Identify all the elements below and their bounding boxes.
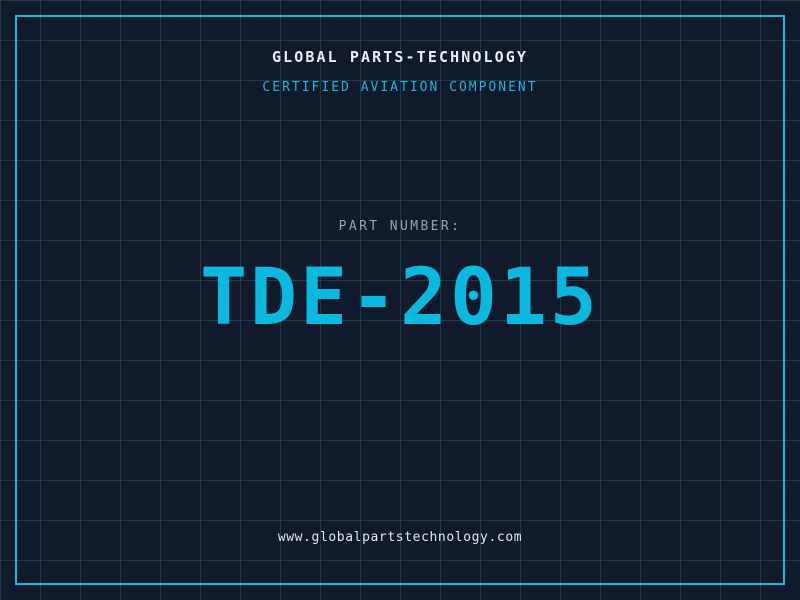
certification-subtitle: CERTIFIED AVIATION COMPONENT <box>0 80 800 95</box>
company-title: GLOBAL PARTS-TECHNOLOGY <box>0 48 800 66</box>
part-number-label: PART NUMBER: <box>0 219 800 234</box>
website-url: www.globalpartstechnology.com <box>0 530 800 545</box>
part-number-value: TDE-2015 <box>0 258 800 338</box>
blueprint-part-card: GLOBAL PARTS-TECHNOLOGY CERTIFIED AVIATI… <box>0 0 800 600</box>
card-content: GLOBAL PARTS-TECHNOLOGY CERTIFIED AVIATI… <box>0 0 800 600</box>
